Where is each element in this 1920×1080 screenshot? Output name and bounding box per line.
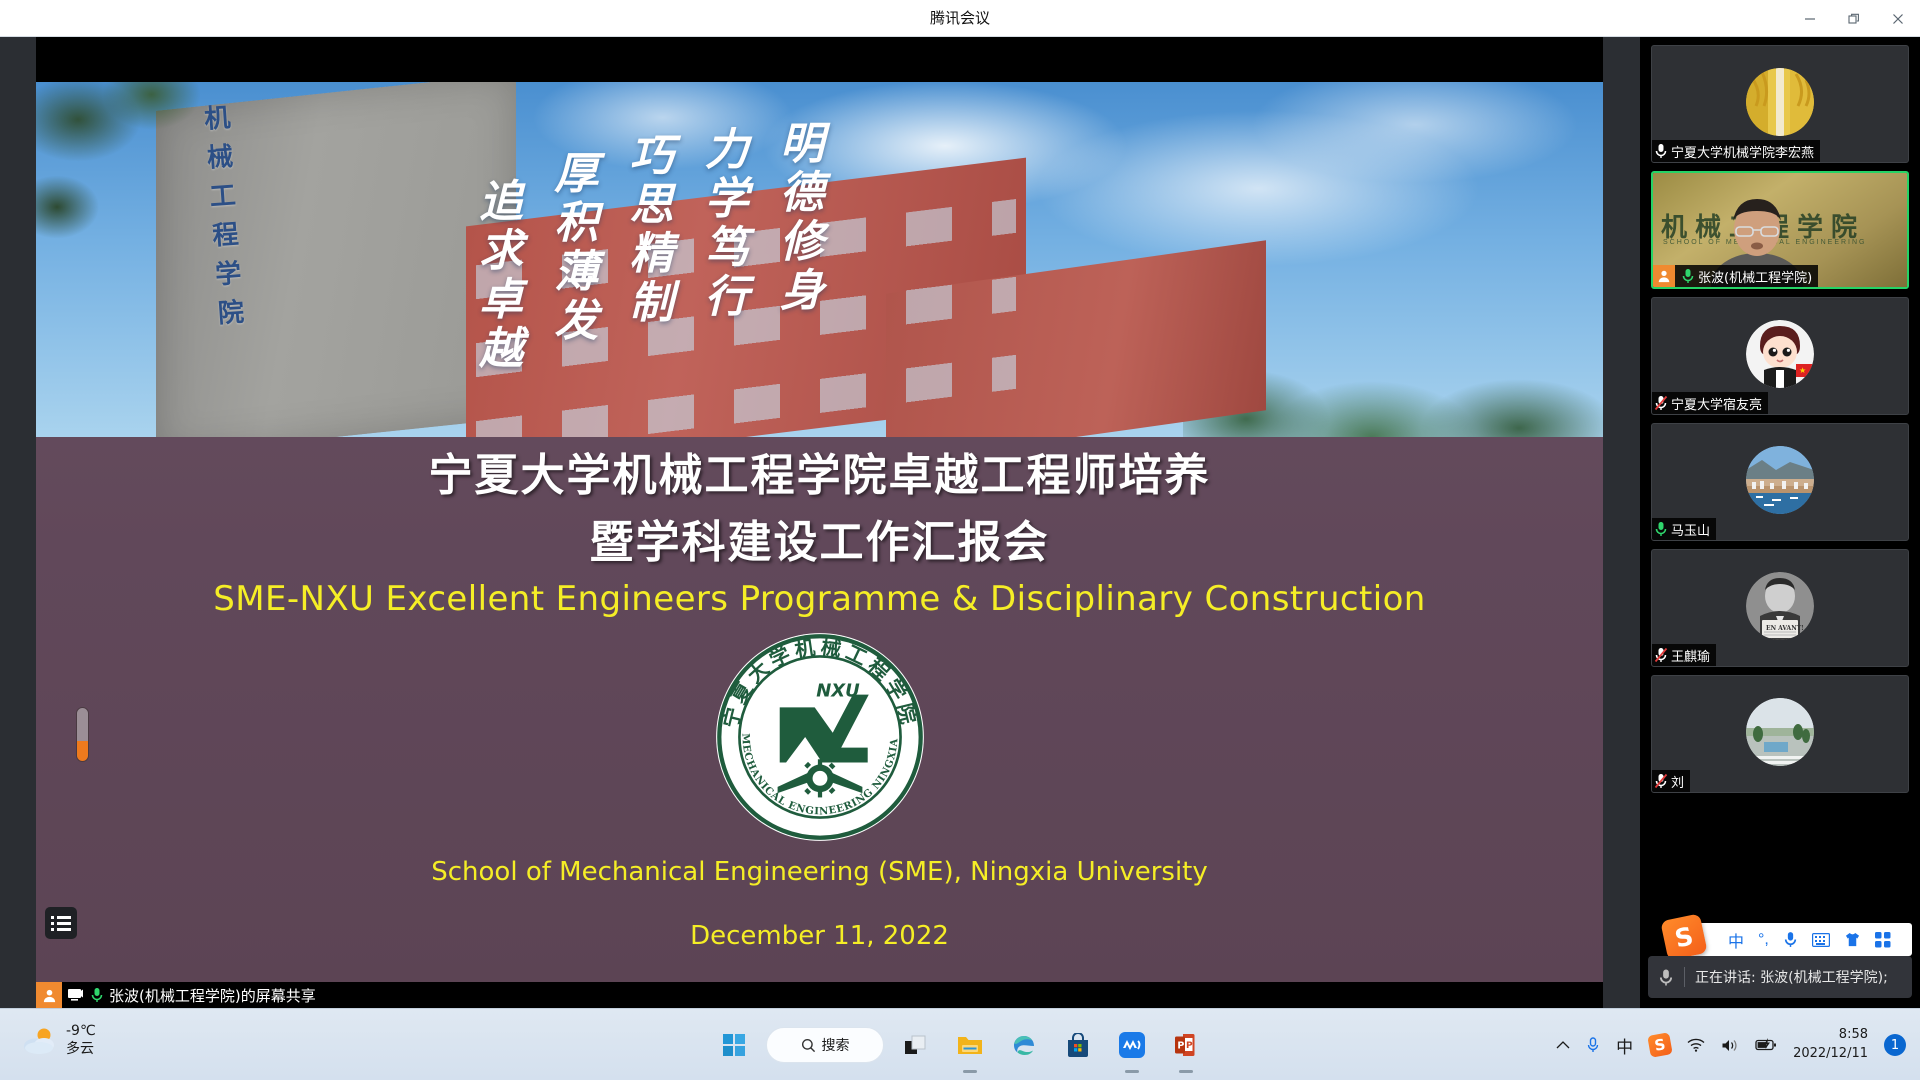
calligraphy-column-4: 力学笃行 [697, 126, 746, 322]
slide-body: 宁夏大学机械工程学院卓越工程师培养 暨学科建设工作汇报会 SME-NXU Exc… [36, 437, 1603, 1008]
host-badge-icon [1653, 265, 1675, 287]
participant-name: 王麒瑜 [1671, 646, 1710, 665]
weather-widget[interactable]: -9℃ 多云 [22, 1023, 96, 1058]
mic-on-icon [1681, 268, 1695, 284]
participant-name-bar: 王麒瑜 [1652, 644, 1716, 666]
tray-volume-icon[interactable] [1721, 1038, 1739, 1053]
slide-title-line-2: 暨学科建设工作汇报会 [36, 514, 1603, 571]
clock-time: 8:58 [1793, 1026, 1868, 1045]
sogou-logo-icon[interactable]: S [1660, 913, 1707, 960]
slide-subtitle-english: SME-NXU Excellent Engineers Programme & … [36, 579, 1603, 619]
window-title: 腾讯会议 [0, 0, 1920, 37]
avatar [1746, 446, 1814, 514]
taskbar-search-box[interactable]: 搜索 [766, 1027, 884, 1063]
taskbar-clock[interactable]: 8:58 2022/12/11 [1793, 1026, 1868, 1064]
logo-container: 宁夏大学机械工程学院 SCHOOL OF MECHANICAL ENGINEER… [36, 631, 1603, 843]
ime-skin-icon[interactable] [1844, 932, 1861, 947]
weather-temperature: -9℃ [66, 1023, 96, 1041]
participant-name-bar: 宁夏大学宿友亮 [1652, 392, 1768, 414]
slide-banner-image: 机械工程学院 追求卓越 厚积薄发 巧思精制 力学笃行 明德修身 [36, 82, 1603, 437]
slide-school-line: School of Mechanical Engineering (SME), … [36, 857, 1603, 887]
edge-button[interactable] [1002, 1023, 1046, 1067]
avatar [1746, 698, 1814, 766]
notification-badge[interactable]: 1 [1884, 1034, 1906, 1056]
speaking-text: 正在讲话: 张波(机械工程学院); [1695, 967, 1888, 987]
screen-share-label: 张波(机械工程学院)的屏幕共享 [109, 985, 316, 1006]
slide-outline-button[interactable] [45, 907, 77, 939]
taskbar-center-items: 搜索 [712, 1009, 1208, 1080]
task-view-button[interactable] [894, 1023, 938, 1067]
calligraphy-column-5: 明德修身 [773, 120, 822, 316]
file-explorer-button[interactable] [948, 1023, 992, 1067]
participant-tile-active-speaker[interactable]: 机械工程学院 SCHOOL OF MECHANICAL ENGINEERING … [1651, 171, 1909, 289]
participant-tile[interactable]: 宁夏大学机械学院李宏燕 [1651, 45, 1909, 163]
slide-date-line: December 11, 2022 [36, 921, 1603, 951]
host-avatar-icon [36, 982, 62, 1008]
calligraphy-column-1: 追求卓越 [472, 178, 521, 374]
avatar: ★ [1746, 320, 1814, 388]
tray-battery-charging-icon[interactable] [1755, 1038, 1777, 1052]
store-icon [1066, 1033, 1090, 1058]
screen-share-icon [67, 987, 85, 1003]
mic-icon [1658, 968, 1674, 987]
restore-button[interactable] [1832, 0, 1876, 37]
svg-text:P: P [1177, 1041, 1184, 1052]
calligraphy-column-2: 厚积薄发 [547, 150, 596, 346]
mic-muted-icon [1654, 773, 1668, 789]
tencent-meeting-icon [1119, 1032, 1145, 1058]
nxu-school-logo: 宁夏大学机械工程学院 SCHOOL OF MECHANICAL ENGINEER… [714, 631, 926, 843]
store-button[interactable] [1056, 1023, 1100, 1067]
participant-tile[interactable]: EN AVANT! 王麒瑜 [1651, 549, 1909, 667]
windows-taskbar: -9℃ 多云 搜索 [0, 1008, 1920, 1080]
participant-name-bar: 宁夏大学机械学院李宏燕 [1652, 140, 1820, 162]
mic-on-icon [1654, 521, 1668, 537]
participant-tile[interactable]: 马玉山 [1651, 423, 1909, 541]
avatar: EN AVANT! [1746, 572, 1814, 640]
participant-name-bar: 马玉山 [1652, 518, 1716, 540]
weather-condition: 多云 [66, 1041, 96, 1059]
participant-name-bar: 张波(机械工程学院) [1653, 265, 1818, 287]
start-button[interactable] [712, 1023, 756, 1067]
folder-icon [957, 1033, 983, 1057]
search-icon [801, 1038, 816, 1053]
speaking-indicator: 正在讲话: 张波(机械工程学院); [1648, 956, 1912, 998]
mic-muted-icon [1654, 647, 1668, 663]
avatar [1746, 68, 1814, 136]
close-button[interactable] [1876, 0, 1920, 37]
banner-calligraphy: 追求卓越 厚积薄发 巧思精制 力学笃行 明德修身 [472, 120, 1561, 374]
divider [1684, 967, 1685, 987]
calligraphy-column-3: 巧思精制 [622, 132, 671, 328]
title-bar: 腾讯会议 [0, 0, 1920, 37]
window-controls [1788, 0, 1920, 37]
participant-name-bar: 刘 [1652, 770, 1690, 792]
task-view-icon [904, 1033, 928, 1057]
tray-wifi-icon[interactable] [1687, 1038, 1705, 1052]
tencent-meeting-window: 腾讯会议 [0, 0, 1920, 1080]
screen-share-status-bar: 张波(机械工程学院)的屏幕共享 [36, 982, 1603, 1008]
ime-mode-chinese[interactable]: 中 [1728, 928, 1744, 952]
ime-punctuation-toggle[interactable]: °, [1758, 931, 1769, 949]
ime-apps-icon[interactable] [1875, 932, 1891, 948]
partly-cloudy-icon [22, 1026, 58, 1056]
ime-voice-icon[interactable] [1783, 931, 1798, 948]
shared-screen-stage: 机械工程学院 追求卓越 厚积薄发 巧思精制 力学笃行 明德修身 宁夏大学机械工程… [0, 37, 1640, 1008]
tray-microphone-icon[interactable] [1586, 1036, 1600, 1054]
participant-panel[interactable]: 宁夏大学机械学院李宏燕 机械工程学院 SCHOOL OF MECHANICAL … [1640, 37, 1920, 1008]
letterbox-top [36, 37, 1603, 82]
slide-title-line-1: 宁夏大学机械工程学院卓越工程师培养 [36, 447, 1603, 504]
sogou-ime-bar[interactable]: S 中 °, [1672, 923, 1912, 956]
tray-sogou-icon[interactable]: S [1649, 1034, 1671, 1056]
show-hidden-icons-button[interactable] [1556, 1040, 1570, 1050]
windows-logo-icon [723, 1034, 745, 1056]
participant-name: 宁夏大学宿友亮 [1671, 394, 1762, 413]
tray-ime-indicator[interactable]: 中 [1616, 1033, 1633, 1058]
ime-keyboard-icon[interactable] [1812, 933, 1830, 947]
mic-on-icon [90, 987, 104, 1003]
svg-text:EN AVANT!: EN AVANT! [1766, 625, 1804, 632]
mic-muted-icon [1654, 395, 1668, 411]
system-tray: 中 S 8:58 2022/12/11 1 [1556, 1009, 1906, 1080]
clock-date: 2022/12/11 [1793, 1045, 1868, 1064]
participant-tile[interactable]: 刘 [1651, 675, 1909, 793]
search-placeholder-text: 搜索 [822, 1035, 850, 1055]
powerpoint-icon: P P [1174, 1032, 1198, 1058]
mic-on-icon [1654, 143, 1668, 159]
edge-icon [1011, 1032, 1037, 1058]
shared-content: 机械工程学院 追求卓越 厚积薄发 巧思精制 力学笃行 明德修身 宁夏大学机械工程… [36, 37, 1603, 1008]
presentation-slide: 机械工程学院 追求卓越 厚积薄发 巧思精制 力学笃行 明德修身 宁夏大学机械工程… [36, 82, 1603, 1008]
svg-text:P: P [1186, 1041, 1193, 1051]
svg-text:★: ★ [1799, 366, 1806, 375]
participant-tile[interactable]: ★ 宁夏大学宿友亮 [1651, 297, 1909, 415]
tencent-meeting-button[interactable] [1110, 1023, 1154, 1067]
minimize-button[interactable] [1788, 0, 1832, 37]
participant-name: 刘 [1671, 772, 1684, 791]
participant-name: 马玉山 [1671, 520, 1710, 539]
participant-name: 张波(机械工程学院) [1698, 267, 1812, 286]
slide-scrollbar-thumb[interactable] [76, 707, 89, 762]
participant-name: 宁夏大学机械学院李宏燕 [1671, 142, 1814, 161]
powerpoint-button[interactable]: P P [1164, 1023, 1208, 1067]
